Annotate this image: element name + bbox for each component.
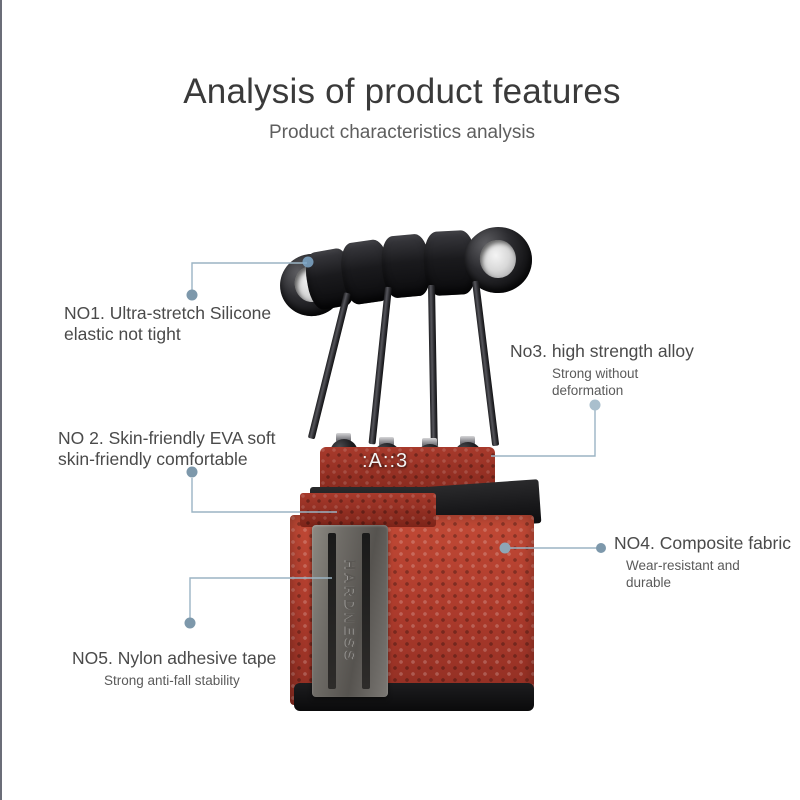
alloy-rod-2	[369, 287, 392, 445]
callout-no3-subtitle: Strong without deformation	[552, 365, 694, 399]
callout-no5-subtitle: Strong anti-fall stability	[104, 672, 276, 689]
callout-no1: NO1. Ultra-stretch Silicone elastic not …	[64, 303, 271, 348]
buckle-slot-right	[362, 533, 370, 689]
metal-buckle: HARDNESS	[312, 525, 388, 697]
buckle-brand-label: HARDNESS	[342, 559, 359, 662]
callout-no1-title: NO1. Ultra-stretch Silicone elastic not …	[64, 303, 271, 345]
callout-no4-subtitle: Wear-resistant and durable	[626, 557, 791, 591]
page-subtitle: Product characteristics analysis	[2, 122, 800, 144]
callout-no4: NO4. Composite fabric Wear-resistant and…	[614, 533, 791, 591]
alloy-rod-4	[472, 281, 499, 447]
product-code-overlay: :A::3	[362, 450, 408, 473]
product-image: HARDNESS :A::3	[252, 215, 582, 715]
callout-no5: NO5. Nylon adhesive tape Strong anti-fal…	[72, 648, 276, 689]
callout-no3: No3. high strength alloy Strong without …	[510, 341, 694, 399]
product-feature-diagram: Analysis of product features Product cha…	[0, 0, 800, 800]
callout-no4-title: NO4. Composite fabric	[614, 533, 791, 554]
ring-hole	[479, 239, 517, 280]
callout-no5-title: NO5. Nylon adhesive tape	[72, 648, 276, 669]
page-title: Analysis of product features	[2, 72, 800, 112]
alloy-rod-3	[428, 285, 438, 447]
callout-no2-title: NO 2. Skin-friendly EVA soft skin-friend…	[58, 428, 276, 470]
callout-no3-title: No3. high strength alloy	[510, 341, 694, 362]
nylon-strap-tail	[300, 493, 436, 527]
callout-no2: NO 2. Skin-friendly EVA soft skin-friend…	[58, 428, 276, 473]
buckle-slot-left	[328, 533, 336, 689]
